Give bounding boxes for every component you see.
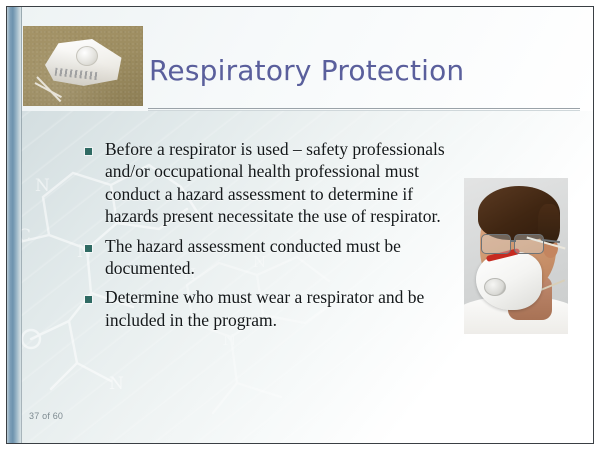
presentation-slide: N HC N N H N N Respiratory xyxy=(7,7,593,443)
square-bullet-icon xyxy=(85,148,92,155)
slide-frame: N HC N N H N N Respiratory xyxy=(6,6,594,444)
page-title: Respiratory Protection xyxy=(149,57,464,85)
bullet-text: Before a respirator is used – safety pro… xyxy=(105,138,445,228)
page-indicator: 37 of 60 xyxy=(29,411,63,421)
safety-glasses-bridge xyxy=(510,240,516,242)
safety-glasses-left-lens xyxy=(481,234,511,254)
title-underline xyxy=(148,108,580,109)
mask-exhalation-valve xyxy=(76,46,98,66)
title-underline-shadow xyxy=(148,110,580,111)
svg-text:N: N xyxy=(109,374,124,394)
square-bullet-icon xyxy=(85,296,92,303)
respirator-exhalation-valve xyxy=(484,278,506,296)
square-bullet-icon xyxy=(85,245,92,252)
slide-viewer: N HC N N H N N Respiratory xyxy=(0,0,600,450)
bullet-text: The hazard assessment conducted must be … xyxy=(105,235,445,280)
list-item: The hazard assessment conducted must be … xyxy=(85,235,445,280)
list-item: Determine who must wear a respirator and… xyxy=(85,286,445,331)
svg-text:N: N xyxy=(35,176,50,196)
bullet-list: Before a respirator is used – safety pro… xyxy=(85,138,445,338)
bullet-text: Determine who must wear a respirator and… xyxy=(105,286,445,331)
left-accent-band xyxy=(7,7,21,443)
list-item: Before a respirator is used – safety pro… xyxy=(85,138,445,228)
respirator-mask-photo xyxy=(23,26,143,106)
safety-glasses-right-lens xyxy=(514,234,544,254)
man-wearing-respirator-photo xyxy=(464,178,568,334)
